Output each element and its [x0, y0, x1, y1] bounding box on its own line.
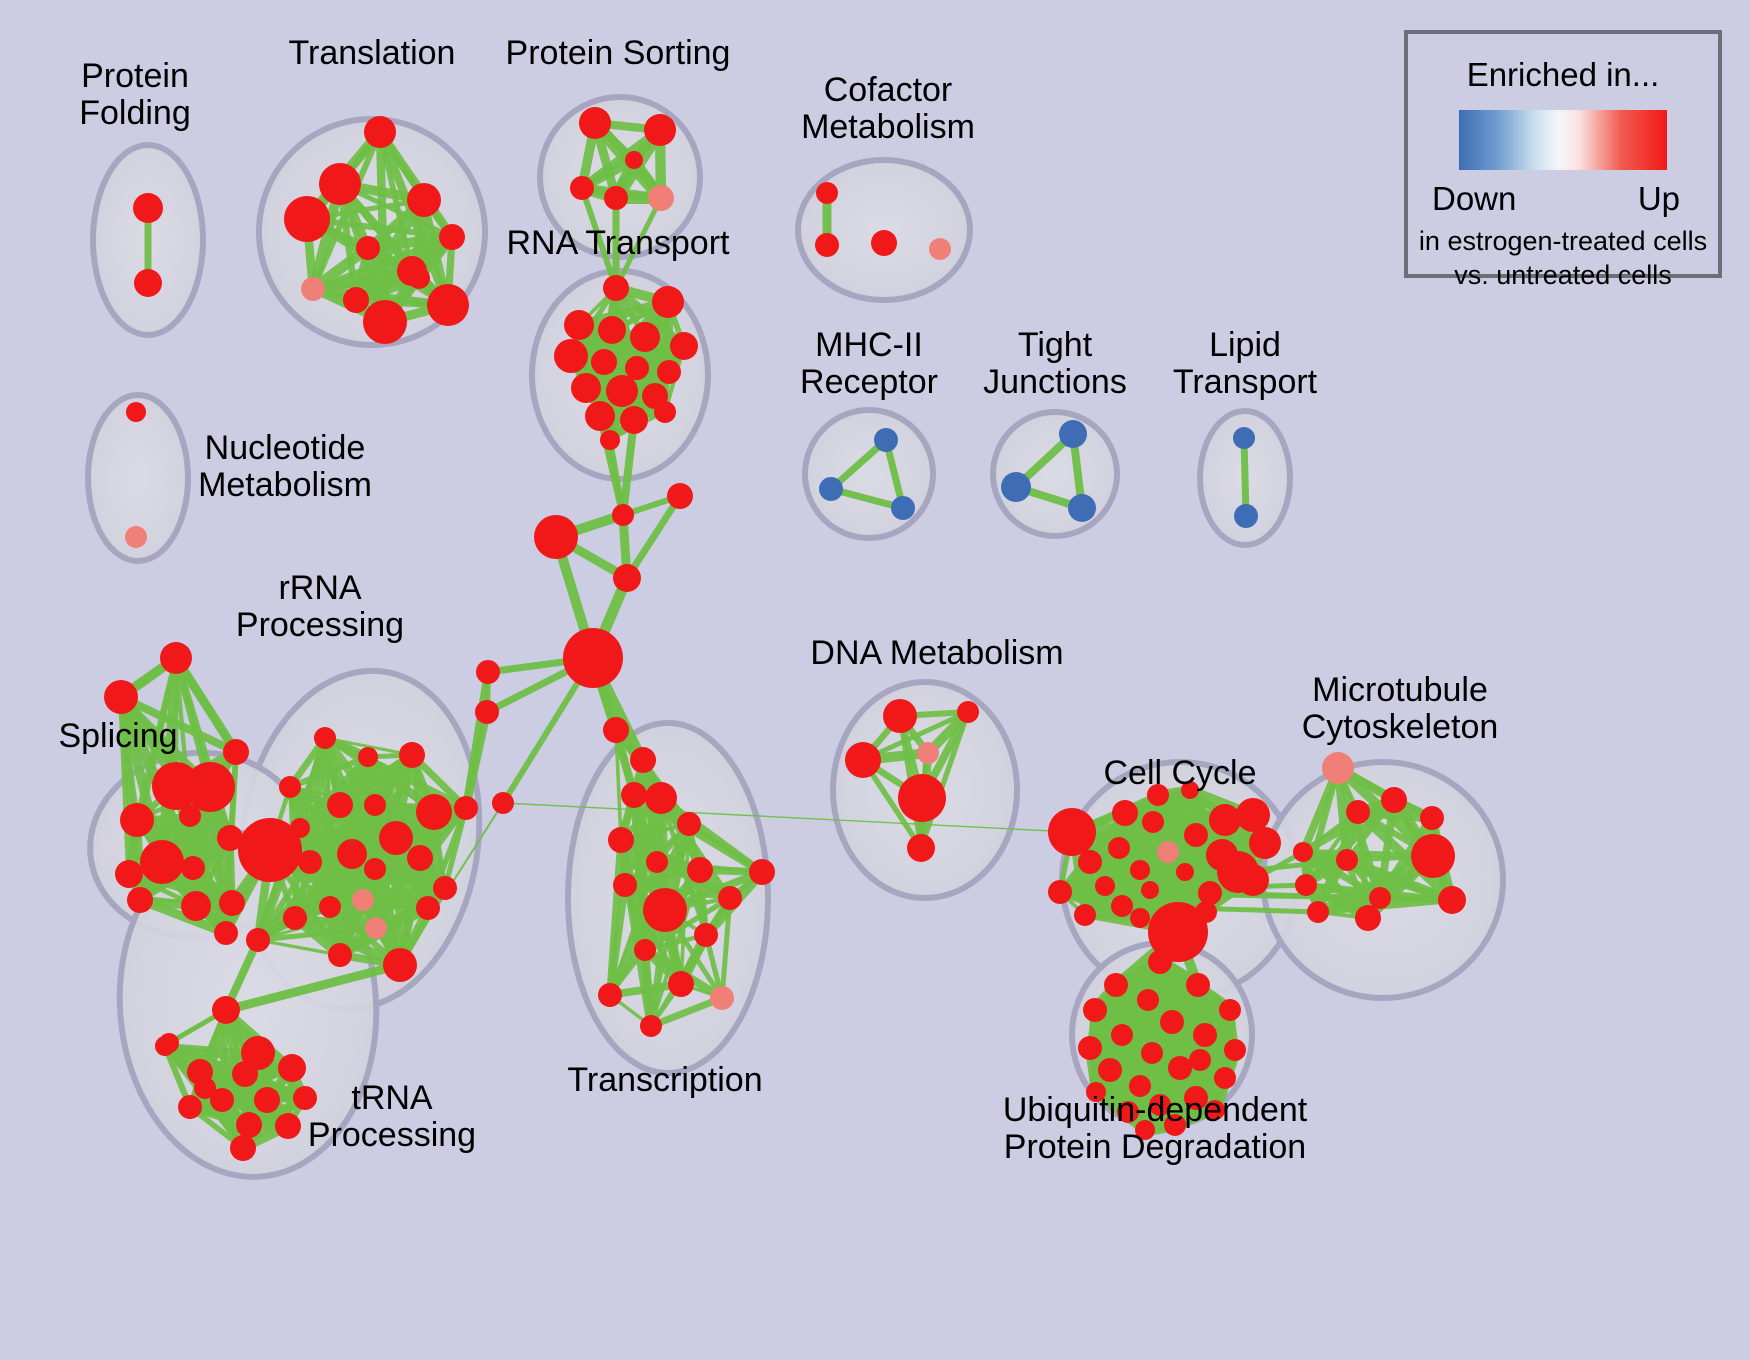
- network-node: [1111, 1024, 1133, 1046]
- network-node: [1186, 973, 1210, 997]
- network-node: [1184, 1086, 1208, 1110]
- network-node: [120, 803, 154, 837]
- network-node: [648, 185, 674, 211]
- network-node: [178, 1095, 202, 1119]
- network-node: [212, 996, 240, 1024]
- network-node: [314, 727, 336, 749]
- network-node: [115, 860, 143, 888]
- network-node: [1195, 901, 1217, 923]
- network-node: [1135, 1120, 1155, 1140]
- network-node: [613, 873, 637, 897]
- network-node: [1104, 973, 1128, 997]
- network-node: [492, 792, 514, 814]
- network-node: [327, 792, 353, 818]
- network-node: [383, 948, 417, 982]
- network-node: [379, 821, 413, 855]
- network-node: [606, 375, 638, 407]
- network-node: [232, 1061, 258, 1087]
- network-node: [871, 230, 897, 256]
- network-node: [427, 284, 469, 326]
- network-node: [1307, 901, 1329, 923]
- network-node: [1149, 1094, 1171, 1116]
- network-node: [319, 896, 341, 918]
- network-node: [645, 782, 677, 814]
- network-node: [343, 287, 369, 313]
- network-node: [1189, 1049, 1211, 1071]
- network-node: [1355, 905, 1381, 931]
- network-node: [1198, 881, 1222, 905]
- network-node: [591, 349, 617, 375]
- network-node: [634, 939, 656, 961]
- network-node: [1168, 1056, 1192, 1080]
- network-node: [1048, 808, 1096, 856]
- network-node: [1249, 827, 1281, 859]
- network-node: [1157, 841, 1179, 863]
- network-node: [1112, 800, 1138, 826]
- network-node: [654, 401, 676, 423]
- legend-subtitle-line2: vs. untreated cells: [1408, 260, 1718, 291]
- legend-subtitle-line1: in estrogen-treated cells: [1408, 226, 1718, 257]
- network-node: [337, 839, 367, 869]
- network-node: [1086, 1082, 1106, 1102]
- network-node: [416, 794, 452, 830]
- network-node: [219, 890, 245, 916]
- network-node: [254, 1087, 280, 1113]
- network-node: [564, 310, 594, 340]
- network-node: [1369, 887, 1391, 909]
- network-node: [194, 1077, 216, 1099]
- network-node: [1381, 787, 1407, 813]
- legend-down-label: Down: [1432, 180, 1516, 218]
- network-node: [1048, 880, 1072, 904]
- network-node: [214, 921, 238, 945]
- network-node: [328, 943, 352, 967]
- network-node: [907, 834, 935, 862]
- network-node: [127, 887, 153, 913]
- network-node: [630, 322, 660, 352]
- network-node: [298, 850, 322, 874]
- network-node: [815, 233, 839, 257]
- network-node: [160, 642, 192, 674]
- network-node: [603, 717, 629, 743]
- network-node: [1117, 1101, 1139, 1123]
- network-node: [1141, 1042, 1163, 1064]
- network-node: [238, 818, 302, 882]
- network-node: [181, 856, 205, 880]
- network-node: [883, 699, 917, 733]
- network-node: [710, 986, 734, 1010]
- network-node: [133, 193, 163, 223]
- network-node: [718, 886, 742, 910]
- legend-up-label: Up: [1638, 180, 1680, 218]
- network-node: [1111, 895, 1133, 917]
- network-node: [929, 238, 951, 260]
- network-node: [126, 402, 146, 422]
- network-node: [1137, 989, 1159, 1011]
- network-node: [275, 1113, 301, 1139]
- network-node: [668, 971, 694, 997]
- network-node: [620, 406, 648, 434]
- network-node: [1164, 1114, 1186, 1136]
- network-node: [687, 857, 713, 883]
- network-node: [408, 267, 430, 289]
- network-node: [301, 277, 325, 301]
- network-node: [608, 827, 634, 853]
- network-node: [1411, 834, 1455, 878]
- network-node: [140, 840, 184, 884]
- network-node: [230, 1135, 256, 1161]
- network-node: [433, 876, 457, 900]
- network-node: [891, 496, 915, 520]
- network-node: [667, 483, 693, 509]
- network-node: [819, 477, 843, 501]
- network-node: [1176, 863, 1194, 881]
- network-node: [571, 373, 601, 403]
- network-node: [1148, 950, 1172, 974]
- network-node: [570, 176, 594, 200]
- network-node: [279, 776, 301, 798]
- network-node: [845, 742, 881, 778]
- network-node: [1078, 1036, 1102, 1060]
- network-node: [1130, 908, 1150, 928]
- network-node: [1346, 800, 1370, 824]
- network-node: [1095, 876, 1115, 896]
- network-node: [1083, 998, 1107, 1022]
- network-node: [630, 747, 656, 773]
- network-node: [356, 236, 380, 260]
- network-node: [579, 107, 611, 139]
- network-node: [1108, 837, 1130, 859]
- network-edge: [330, 907, 428, 908]
- network-node: [104, 680, 138, 714]
- network-node: [1336, 849, 1358, 871]
- network-node: [236, 1112, 262, 1138]
- network-node: [643, 888, 687, 932]
- network-node: [475, 700, 499, 724]
- network-node: [407, 183, 441, 217]
- network-node: [1438, 886, 1466, 914]
- network-node: [1233, 427, 1255, 449]
- network-node: [646, 851, 668, 873]
- network-node: [454, 796, 478, 820]
- network-node: [364, 858, 386, 880]
- cluster-hulls: [81, 97, 1503, 1186]
- network-node: [657, 360, 681, 384]
- network-node: [1420, 806, 1444, 830]
- network-node: [563, 628, 623, 688]
- network-node: [1295, 874, 1317, 896]
- network-node: [1142, 811, 1164, 833]
- network-node: [874, 428, 898, 452]
- network-node: [352, 889, 374, 911]
- network-node: [476, 660, 500, 684]
- network-node: [1078, 850, 1102, 874]
- network-node: [670, 332, 698, 360]
- network-node: [284, 196, 330, 242]
- network-node: [1193, 1023, 1217, 1047]
- network-node: [365, 917, 387, 939]
- network-node: [1293, 842, 1313, 862]
- network-node: [1236, 798, 1270, 832]
- legend-title: Enriched in...: [1408, 56, 1718, 94]
- network-node: [1205, 1100, 1225, 1120]
- network-node: [416, 896, 440, 920]
- cluster-hull-mhc-ii-receptor: [805, 410, 933, 538]
- network-node: [125, 526, 147, 548]
- network-node: [898, 774, 946, 822]
- network-node: [1130, 860, 1150, 880]
- network-node: [917, 742, 939, 764]
- network-node: [612, 504, 634, 526]
- network-node: [363, 300, 407, 344]
- network-node: [439, 224, 465, 250]
- network-node: [621, 782, 647, 808]
- network-node: [1237, 864, 1269, 896]
- network-node: [399, 742, 425, 768]
- network-node: [223, 739, 249, 765]
- network-node: [640, 1015, 662, 1037]
- network-node: [1181, 781, 1199, 799]
- network-node: [677, 812, 701, 836]
- network-node: [1001, 472, 1031, 502]
- network-node: [1224, 1039, 1246, 1061]
- network-node: [185, 762, 235, 812]
- network-node: [358, 747, 378, 767]
- network-node: [625, 151, 643, 169]
- network-node: [816, 182, 838, 204]
- network-node: [598, 316, 626, 344]
- network-node: [278, 1054, 306, 1082]
- network-node: [1147, 784, 1169, 806]
- network-node: [283, 906, 307, 930]
- network-node: [598, 983, 622, 1007]
- network-node: [1219, 999, 1241, 1021]
- network-node: [1322, 752, 1354, 784]
- network-node: [534, 515, 578, 559]
- network-node: [1074, 904, 1096, 926]
- network-node: [625, 356, 649, 380]
- network-node: [364, 116, 396, 148]
- network-node: [1129, 1075, 1151, 1097]
- network-node: [694, 923, 718, 947]
- network-node: [364, 794, 386, 816]
- network-node: [246, 928, 270, 952]
- network-node: [1209, 804, 1241, 836]
- network-node: [585, 401, 615, 431]
- network-node: [319, 163, 361, 205]
- network-node: [1098, 1058, 1122, 1082]
- network-node: [749, 859, 775, 885]
- network-node: [600, 430, 620, 450]
- network-node: [957, 701, 979, 723]
- network-node: [1059, 420, 1087, 448]
- network-node: [1068, 494, 1096, 522]
- network-node: [603, 275, 629, 301]
- network-node: [1214, 1067, 1236, 1089]
- network-node: [1160, 1010, 1184, 1034]
- network-node: [134, 269, 162, 297]
- network-node: [554, 339, 588, 373]
- network-node: [1141, 881, 1159, 899]
- network-node: [293, 1086, 317, 1110]
- network-node: [159, 1033, 179, 1053]
- network-node: [652, 286, 684, 318]
- network-node: [179, 805, 201, 827]
- network-figure: Protein FoldingTranslationProtein Sortin…: [0, 0, 1750, 1360]
- network-node: [1184, 823, 1208, 847]
- network-node: [181, 891, 211, 921]
- legend-box: Enriched in... Down Up in estrogen-treat…: [1404, 30, 1722, 278]
- network-node: [407, 845, 433, 871]
- network-node: [1234, 504, 1258, 528]
- network-node: [613, 564, 641, 592]
- legend-color-bar: [1459, 110, 1667, 170]
- network-node: [644, 114, 676, 146]
- network-node: [604, 186, 628, 210]
